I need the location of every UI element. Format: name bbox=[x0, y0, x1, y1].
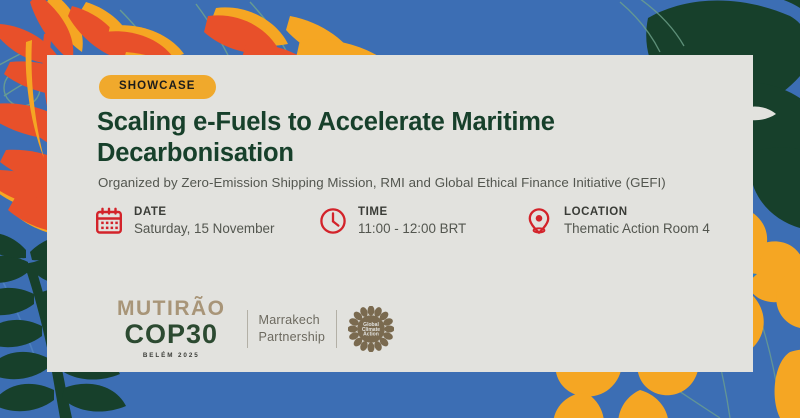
marrakech-line-1: Marrakech bbox=[259, 312, 326, 328]
logo-strip: MUTIRÃO COP30 BELÉM 2025 Marrakech Partn… bbox=[117, 298, 394, 359]
banner-root: SHOWCASE Scaling e-Fuels to Accelerate M… bbox=[0, 0, 800, 418]
clock-icon bbox=[319, 207, 347, 235]
logo-divider-right bbox=[336, 310, 337, 348]
marrakech-partnership-logo: Marrakech Partnership bbox=[247, 306, 395, 352]
calendar-icon bbox=[95, 207, 123, 235]
detail-location-text: LOCATION Thematic Action Room 4 bbox=[564, 207, 710, 236]
flower-edge-partial bbox=[775, 350, 800, 418]
global-climate-action-seal: Global Climate Action bbox=[348, 306, 394, 352]
detail-time-label: TIME bbox=[358, 207, 466, 219]
marrakech-partnership-text: Marrakech Partnership bbox=[259, 312, 326, 344]
event-card: SHOWCASE Scaling e-Fuels to Accelerate M… bbox=[47, 55, 753, 372]
detail-location-label: LOCATION bbox=[564, 207, 710, 219]
cop30-logo: MUTIRÃO COP30 BELÉM 2025 bbox=[117, 298, 226, 359]
detail-location-value: Thematic Action Room 4 bbox=[564, 221, 710, 236]
event-title: Scaling e-Fuels to Accelerate Maritime D… bbox=[97, 107, 717, 169]
detail-time-value: 11:00 - 12:00 BRT bbox=[358, 221, 466, 236]
event-details-row: DATE Saturday, 15 November TIME 11:00 - … bbox=[95, 207, 745, 255]
belem-2025-label: BELÉM 2025 bbox=[143, 352, 200, 359]
logo-divider-left bbox=[247, 310, 248, 348]
detail-location: LOCATION Thematic Action Room 4 bbox=[525, 207, 710, 236]
detail-date: DATE Saturday, 15 November bbox=[95, 207, 274, 236]
detail-date-label: DATE bbox=[134, 207, 274, 219]
showcase-badge: SHOWCASE bbox=[99, 75, 216, 99]
event-organizers: Organized by Zero-Emission Shipping Miss… bbox=[98, 175, 666, 190]
marrakech-line-2: Partnership bbox=[259, 329, 326, 345]
mutirao-wordmark: MUTIRÃO bbox=[117, 298, 226, 319]
detail-time: TIME 11:00 - 12:00 BRT bbox=[319, 207, 466, 236]
seal-text-line-3: Action bbox=[363, 331, 379, 337]
location-pin-icon bbox=[525, 207, 553, 235]
cop30-wordmark: COP30 bbox=[124, 320, 218, 349]
detail-date-text: DATE Saturday, 15 November bbox=[134, 207, 274, 236]
detail-time-text: TIME 11:00 - 12:00 BRT bbox=[358, 207, 466, 236]
detail-date-value: Saturday, 15 November bbox=[134, 221, 274, 236]
